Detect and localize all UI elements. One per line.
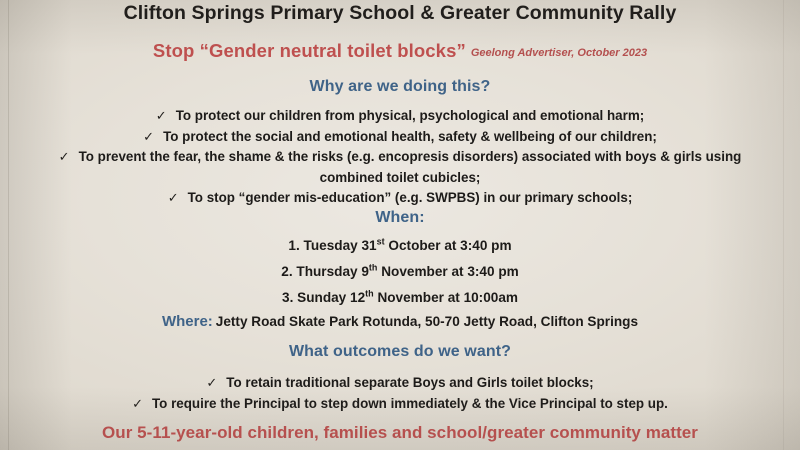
list-item: ✓To protect the social and emotional hea… — [0, 127, 800, 148]
event-date: 12 — [350, 290, 365, 305]
heading-outcomes: What outcomes do we want? — [0, 343, 800, 361]
flyer-photo: Clifton Springs Primary School & Greater… — [0, 0, 800, 450]
flyer-content: Clifton Springs Primary School & Greater… — [0, 0, 800, 450]
check-icon: ✓ — [168, 190, 179, 205]
event-time: at 3:40 pm — [451, 264, 518, 279]
event-month: October — [388, 238, 440, 253]
list-item: ✓To stop “gender mis-education” (e.g. SW… — [0, 188, 800, 209]
event-day: Sunday — [297, 290, 346, 305]
event-month: November — [377, 290, 443, 305]
list-item: ✓To prevent the fear, the shame & the ri… — [0, 147, 800, 188]
subtitle-row: Stop “Gender neutral toilet blocks”Geelo… — [0, 40, 800, 62]
page-title: Clifton Springs Primary School & Greater… — [0, 2, 800, 25]
event-ordinal: th — [369, 262, 378, 272]
check-icon: ✓ — [156, 108, 167, 123]
outcomes-bullet-list: ✓To retain traditional separate Boys and… — [0, 373, 800, 414]
event-ordinal: st — [377, 236, 385, 246]
event-number: 2. — [281, 264, 292, 279]
list-item: ✓To require the Principal to step down i… — [0, 394, 800, 415]
where-label: Where: — [162, 313, 213, 330]
list-item-label: To stop “gender mis-education” (e.g. SWP… — [188, 190, 633, 205]
list-item: 2. Thursday 9th November at 3:40 pm — [0, 259, 800, 285]
event-day: Tuesday — [304, 238, 358, 253]
event-ordinal: th — [365, 288, 374, 298]
check-icon: ✓ — [143, 129, 154, 144]
list-item-label: To prevent the fear, the shame & the ris… — [79, 149, 742, 185]
list-item: ✓To retain traditional separate Boys and… — [0, 373, 800, 394]
list-item-label: To protect our children from physical, p… — [176, 108, 645, 123]
heading-when: When: — [0, 209, 800, 227]
list-item: ✓To protect our children from physical, … — [0, 106, 800, 127]
event-number: 3. — [282, 290, 293, 305]
heading-why: Why are we doing this? — [0, 78, 800, 96]
event-month: November — [381, 264, 447, 279]
event-time: at 10:00am — [448, 290, 518, 305]
why-bullet-list: ✓To protect our children from physical, … — [0, 106, 800, 209]
event-date: 31 — [361, 238, 376, 253]
event-number: 1. — [288, 238, 299, 253]
event-time: at 3:40 pm — [444, 238, 511, 253]
list-item: 3. Sunday 12th November at 10:00am — [0, 285, 800, 311]
where-address: Jetty Road Skate Park Rotunda, 50-70 Jet… — [216, 314, 638, 329]
subtitle: Stop “Gender neutral toilet blocks” — [153, 40, 466, 61]
event-day: Thursday — [296, 264, 357, 279]
check-icon: ✓ — [206, 375, 217, 390]
where-line: Where:Jetty Road Skate Park Rotunda, 50-… — [0, 313, 800, 330]
when-event-list: 1. Tuesday 31st October at 3:40 pm 2. Th… — [0, 233, 800, 311]
list-item-label: To protect the social and emotional heal… — [163, 129, 657, 144]
check-icon: ✓ — [59, 149, 70, 164]
list-item-label: To require the Principal to step down im… — [152, 396, 668, 411]
source-attribution: Geelong Advertiser, October 2023 — [471, 47, 647, 59]
check-icon: ✓ — [132, 396, 143, 411]
event-date: 9 — [361, 264, 369, 279]
list-item: 1. Tuesday 31st October at 3:40 pm — [0, 233, 800, 259]
list-item-label: To retain traditional separate Boys and … — [226, 375, 593, 390]
closing-statement: Our 5-11-year-old children, families and… — [0, 423, 800, 443]
